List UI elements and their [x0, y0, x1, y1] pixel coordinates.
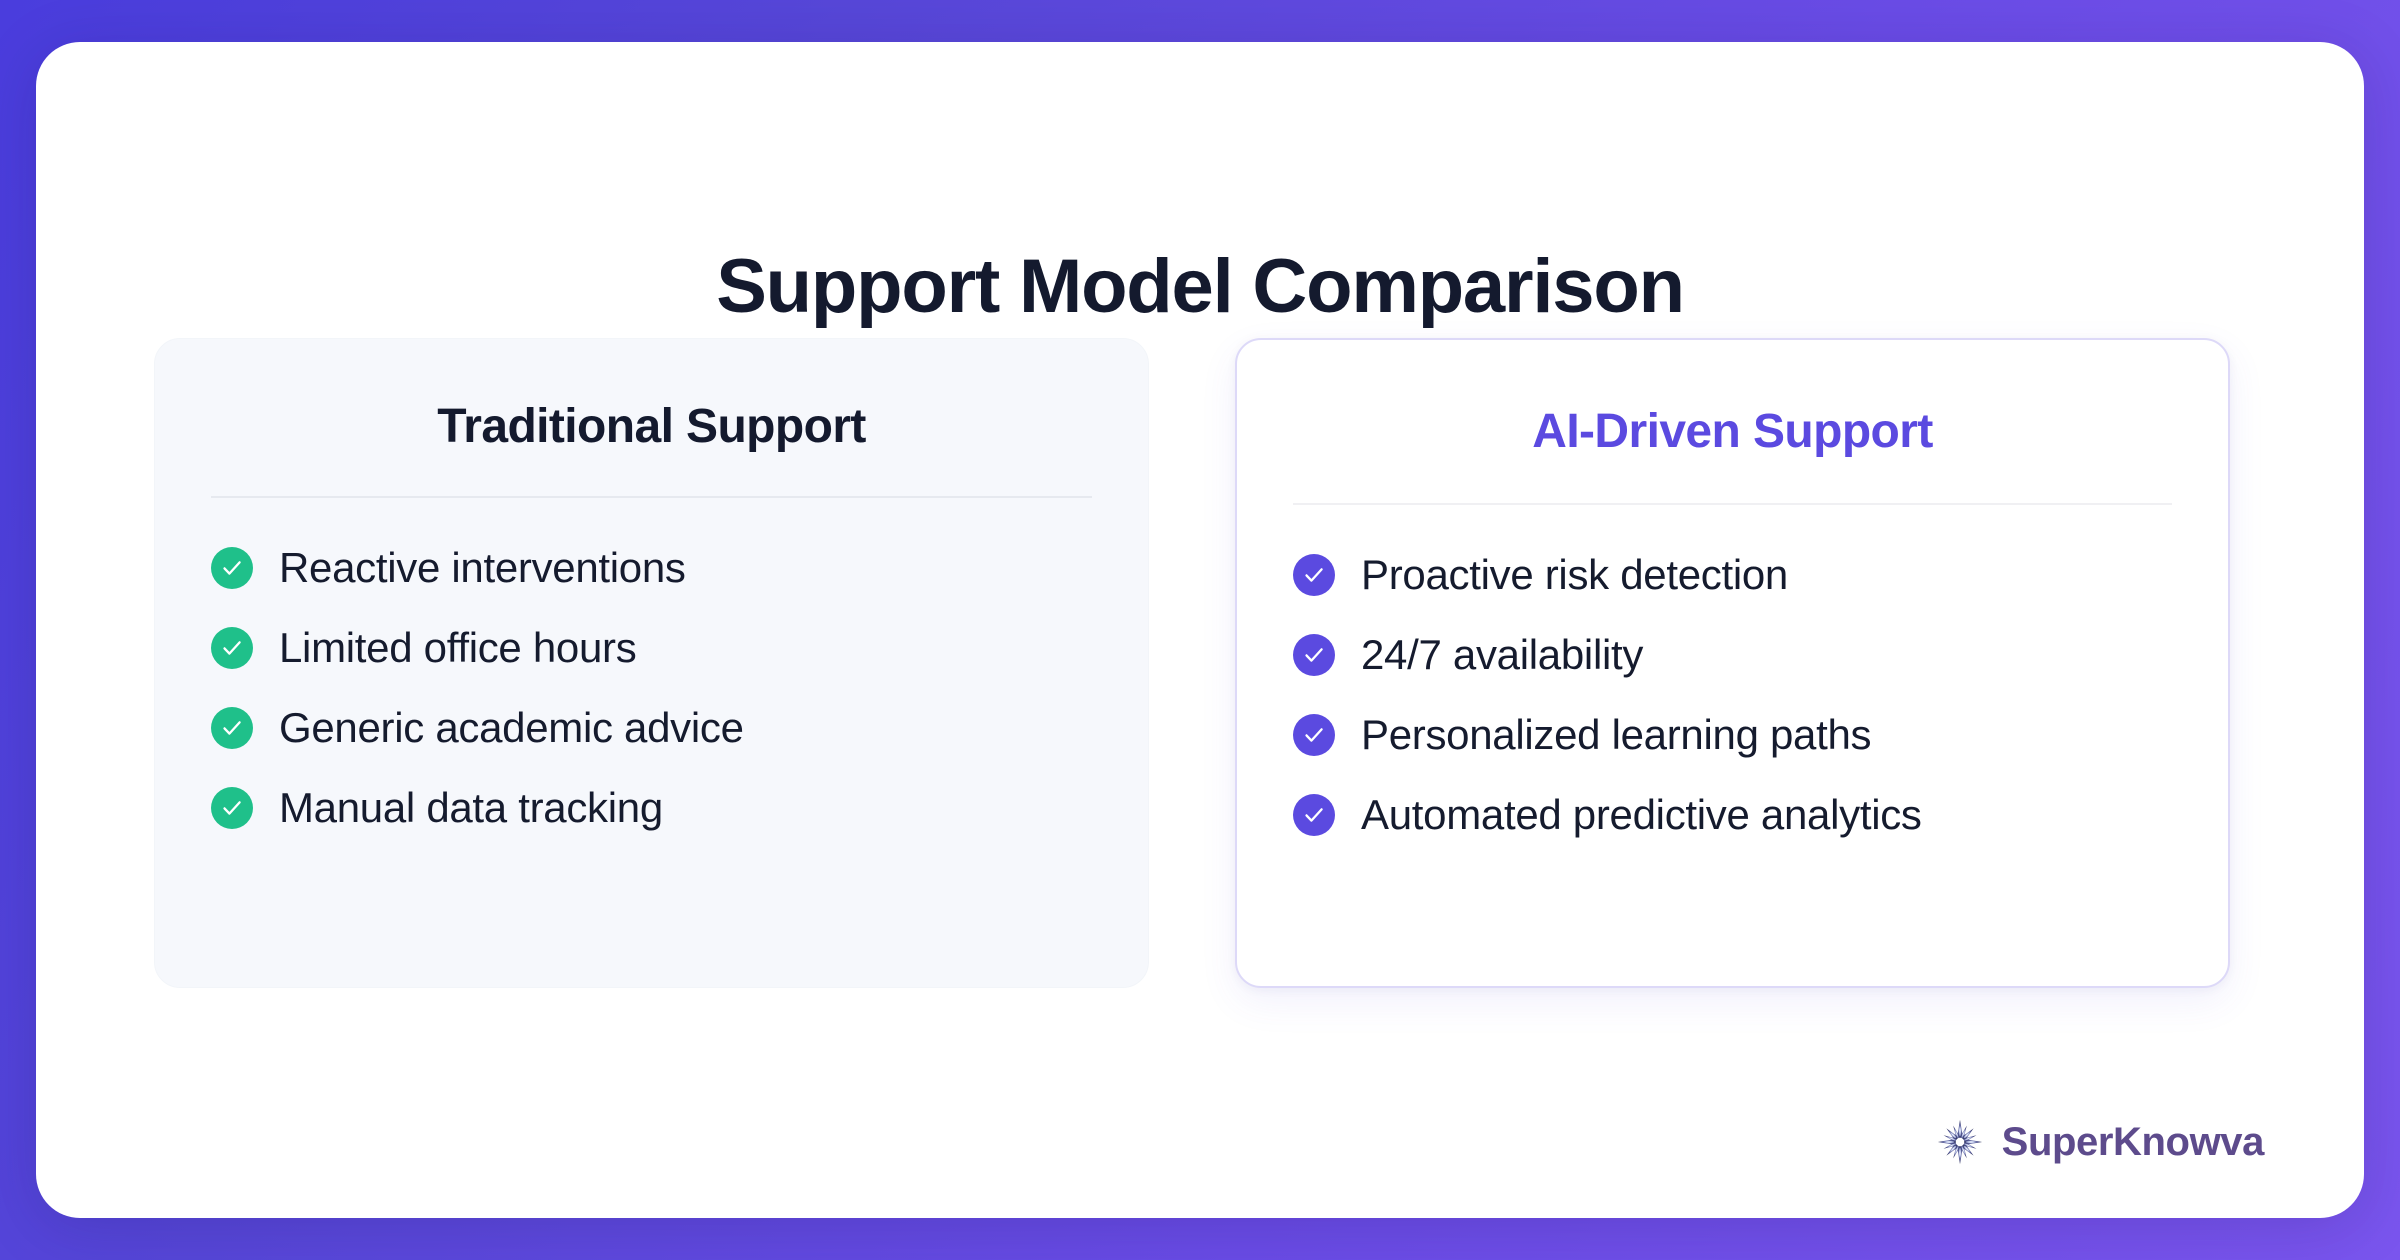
list-item: Proactive risk detection — [1293, 553, 2172, 597]
starburst-logo-icon — [1936, 1118, 1984, 1166]
check-circle-icon — [211, 547, 253, 589]
check-circle-icon — [1293, 634, 1335, 676]
list-item-label: Automated predictive analytics — [1361, 793, 1922, 837]
feature-list-traditional: Reactive interventions Limited office ho… — [211, 498, 1092, 830]
check-circle-icon — [211, 627, 253, 669]
comparison-columns: Traditional Support Reactive interventio… — [154, 338, 2250, 988]
list-item: Generic academic advice — [211, 706, 1092, 750]
comparison-card-traditional: Traditional Support Reactive interventio… — [154, 338, 1149, 988]
list-item-label: Generic academic advice — [279, 706, 744, 750]
list-item-label: Limited office hours — [279, 626, 636, 670]
slide-canvas: Support Model Comparison Traditional Sup… — [36, 42, 2364, 1218]
check-circle-icon — [1293, 554, 1335, 596]
list-item: Manual data tracking — [211, 786, 1092, 830]
list-item: Limited office hours — [211, 626, 1092, 670]
check-circle-icon — [211, 707, 253, 749]
list-item: 24/7 availability — [1293, 633, 2172, 677]
check-circle-icon — [1293, 714, 1335, 756]
list-item: Personalized learning paths — [1293, 713, 2172, 757]
list-item: Reactive interventions — [211, 546, 1092, 590]
feature-list-ai-driven: Proactive risk detection 24/7 availabili… — [1293, 505, 2172, 837]
list-item-label: Reactive interventions — [279, 546, 686, 590]
card-title-traditional: Traditional Support — [211, 385, 1092, 454]
list-item: Automated predictive analytics — [1293, 793, 2172, 837]
list-item-label: Proactive risk detection — [1361, 553, 1788, 597]
brand-name: SuperKnowva — [2002, 1120, 2264, 1165]
page-title: Support Model Comparison — [36, 243, 2364, 330]
check-circle-icon — [1293, 794, 1335, 836]
card-title-ai-driven: AI-Driven Support — [1293, 386, 2172, 459]
comparison-card-ai-driven: AI-Driven Support Proactive risk detecti… — [1235, 338, 2230, 988]
brand-lockup: SuperKnowva — [1936, 1118, 2264, 1166]
list-item-label: Personalized learning paths — [1361, 713, 1871, 757]
list-item-label: Manual data tracking — [279, 786, 663, 830]
list-item-label: 24/7 availability — [1361, 633, 1643, 677]
check-circle-icon — [211, 787, 253, 829]
